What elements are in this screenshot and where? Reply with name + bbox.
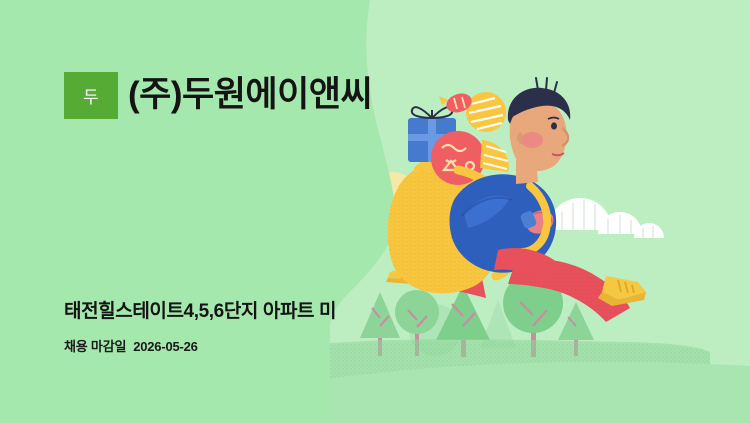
deadline-label: 채용 마감일 (64, 336, 126, 355)
company-header: 두 (주)두원에이앤씨 (64, 72, 372, 119)
deadline-date: 2026-05-26 (133, 339, 198, 354)
company-logo-badge: 두 (64, 72, 118, 119)
cloud-left (358, 214, 428, 242)
front-leg (508, 259, 646, 322)
job-summary: 태전힐스테이트4,5,6단지 아파트 미 채용 마감일 2026-05-26 (64, 300, 354, 355)
torso (450, 174, 557, 272)
job-posting-card[interactable]: 두 (주)두원에이앤씨 태전힐스테이트4,5,6단지 아파트 미 채용 마감일 … (0, 0, 750, 423)
ground-band (330, 339, 750, 423)
tree-row (360, 273, 594, 357)
job-title[interactable]: 태전힐스테이트4,5,6단지 아파트 미 (64, 300, 354, 325)
running-man-with-gift-sack-illustration (330, 0, 750, 423)
front-hand (523, 206, 558, 238)
candy (439, 90, 480, 115)
running-man-figure (386, 78, 646, 322)
deadline-row: 채용 마감일 2026-05-26 (64, 336, 354, 355)
gift-sack (388, 155, 501, 294)
rear-leg (386, 263, 486, 298)
gift-items (408, 90, 509, 185)
cloud-right (548, 198, 664, 238)
company-name: (주)두원에이앤씨 (128, 77, 372, 114)
head (508, 78, 570, 171)
